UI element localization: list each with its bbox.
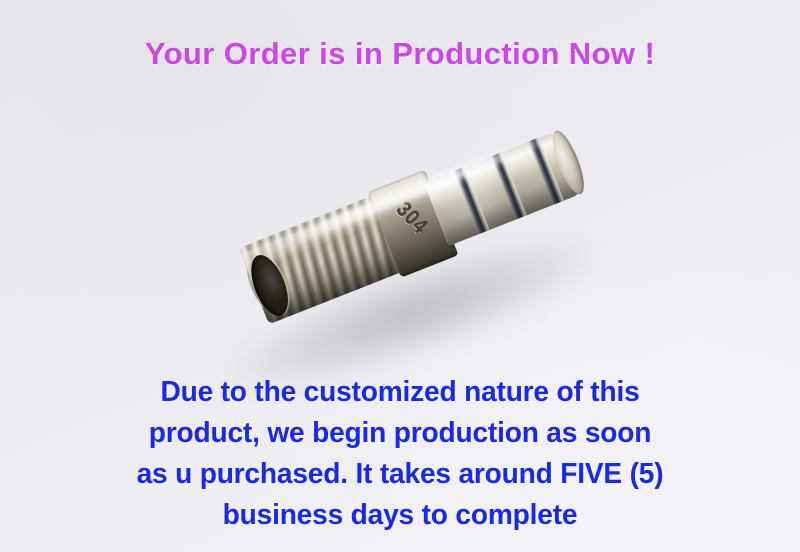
page-title: Your Order is in Production Now ! <box>0 36 800 72</box>
notice-line: Due to the customized nature of this <box>12 372 788 413</box>
production-notice-text: Due to the customized nature of this pro… <box>12 372 788 536</box>
notice-line: product, we begin production as soon <box>12 413 788 454</box>
product-photo: 304 <box>180 120 640 380</box>
notice-canvas: Your Order is in Production Now ! 304 Du… <box>0 0 800 552</box>
notice-line: as u purchased. It takes around FIVE (5) <box>12 454 788 495</box>
notice-line: business days to complete <box>12 495 788 536</box>
